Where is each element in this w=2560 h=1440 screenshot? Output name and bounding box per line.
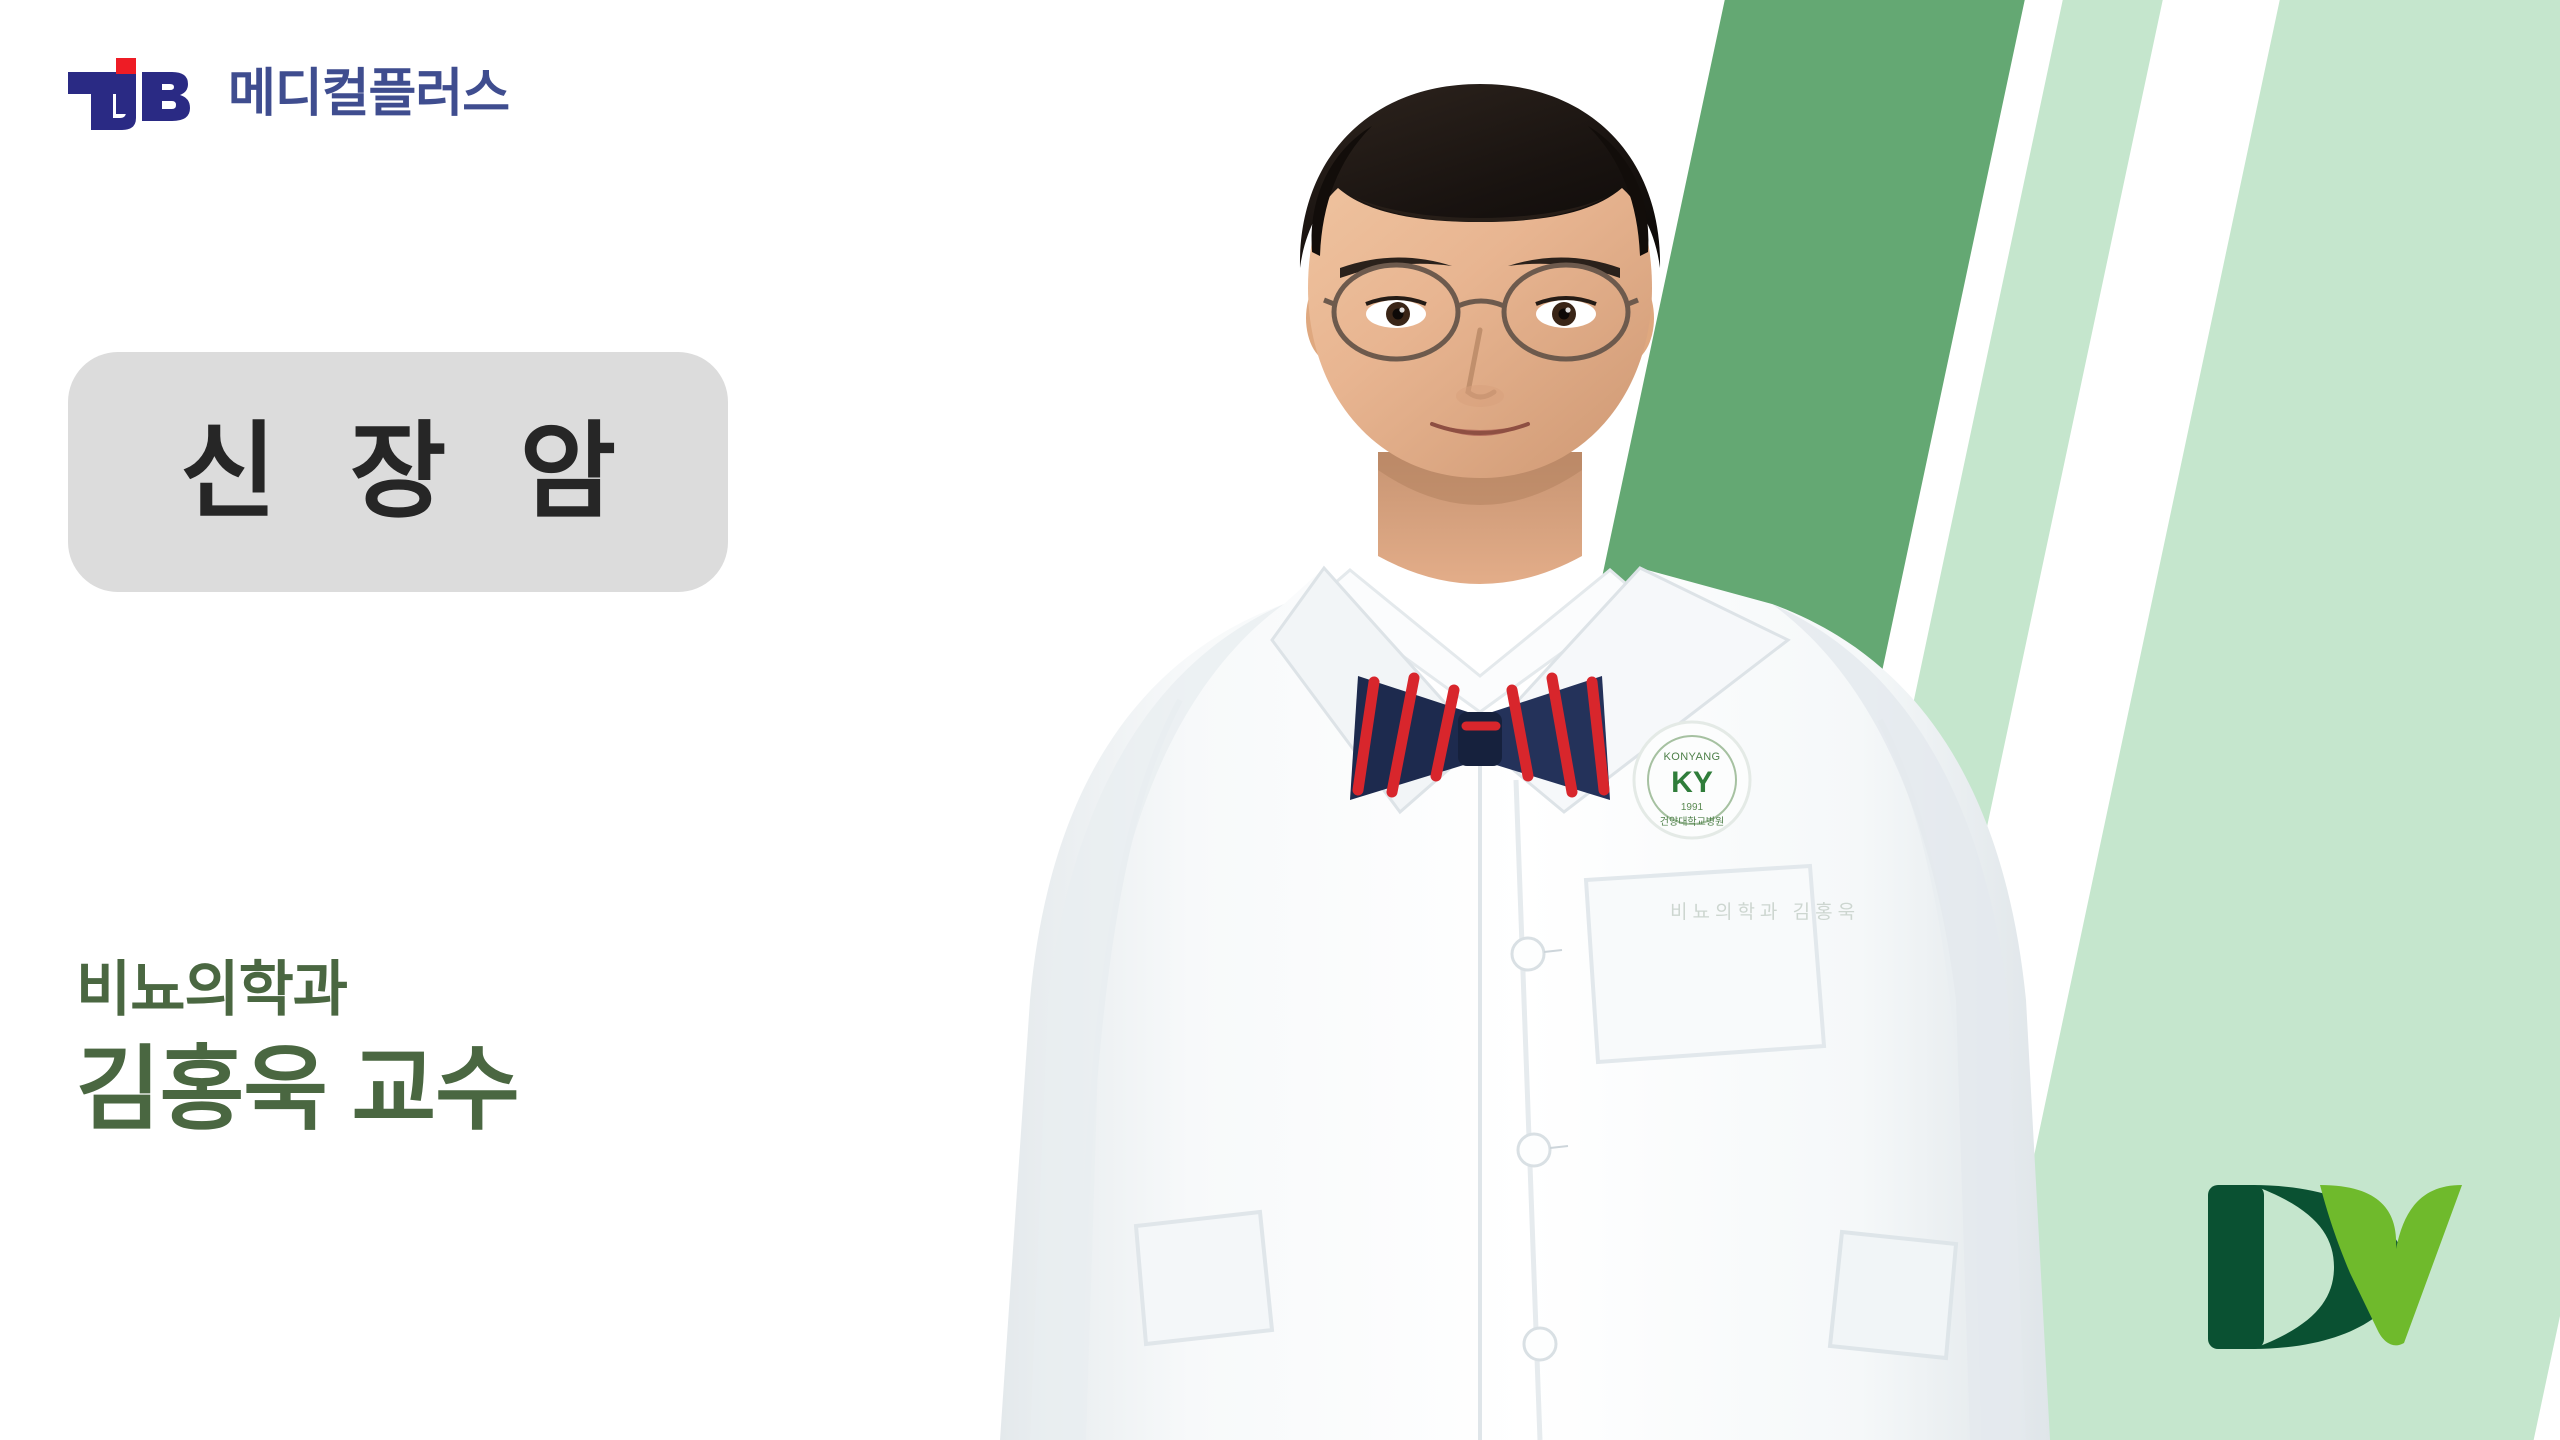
tjb-logo-icon [68, 58, 206, 130]
page-title: 신 장 암 [158, 420, 638, 525]
svg-text:1991: 1991 [1681, 802, 1704, 813]
doctor-name-label: 김홍욱 교수 [76, 1040, 519, 1141]
credit-block: 비뇨의학과 김홍욱 교수 [76, 955, 519, 1141]
doctor-portrait: KONYANG KY 1991 건양대학교병원 비뇨의학과 김홍욱 [880, 0, 2220, 1440]
title-pill: 신 장 암 [68, 352, 728, 592]
program-name: 메디컬플러스 [228, 68, 509, 120]
svg-text:비뇨의학과 김홍욱: 비뇨의학과 김홍욱 [1670, 901, 1860, 923]
svg-text:KONYANG: KONYANG [1664, 751, 1721, 763]
broadcast-title-card: KONYANG KY 1991 건양대학교병원 비뇨의학과 김홍욱 [0, 0, 2560, 1440]
svg-text:건양대학교병원: 건양대학교병원 [1660, 816, 1724, 828]
ky-hospital-logo-icon [2208, 1177, 2468, 1362]
department-label: 비뇨의학과 [76, 955, 519, 1026]
tjb-logo: 메디컬플러스 [68, 58, 509, 130]
svg-text:KY: KY [1671, 766, 1713, 799]
